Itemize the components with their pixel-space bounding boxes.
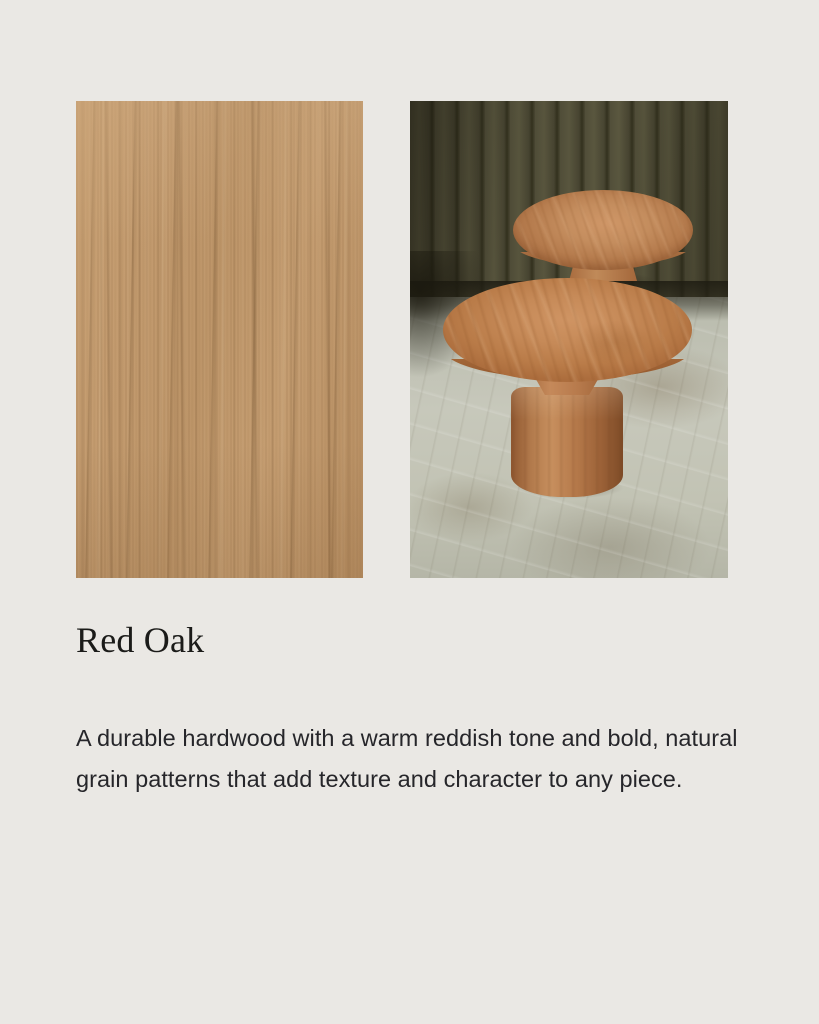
upper-table-grain [513, 190, 693, 270]
media-row [76, 101, 728, 578]
red-oak-grain-swatch[interactable] [76, 101, 363, 578]
material-title: Red Oak [76, 618, 204, 662]
grain-layer-shading [76, 101, 363, 578]
upper-table-top [513, 190, 693, 270]
lower-table-base [511, 387, 623, 497]
red-oak-side-tables-photo[interactable] [410, 101, 728, 578]
lower-table-grain [443, 278, 692, 382]
material-description: A durable hardwood with a warm reddish t… [76, 718, 766, 800]
lower-table-top [443, 278, 692, 382]
lower-table-base-sheen [511, 387, 623, 497]
product-material-card: Red Oak A durable hardwood with a warm r… [0, 0, 819, 1024]
